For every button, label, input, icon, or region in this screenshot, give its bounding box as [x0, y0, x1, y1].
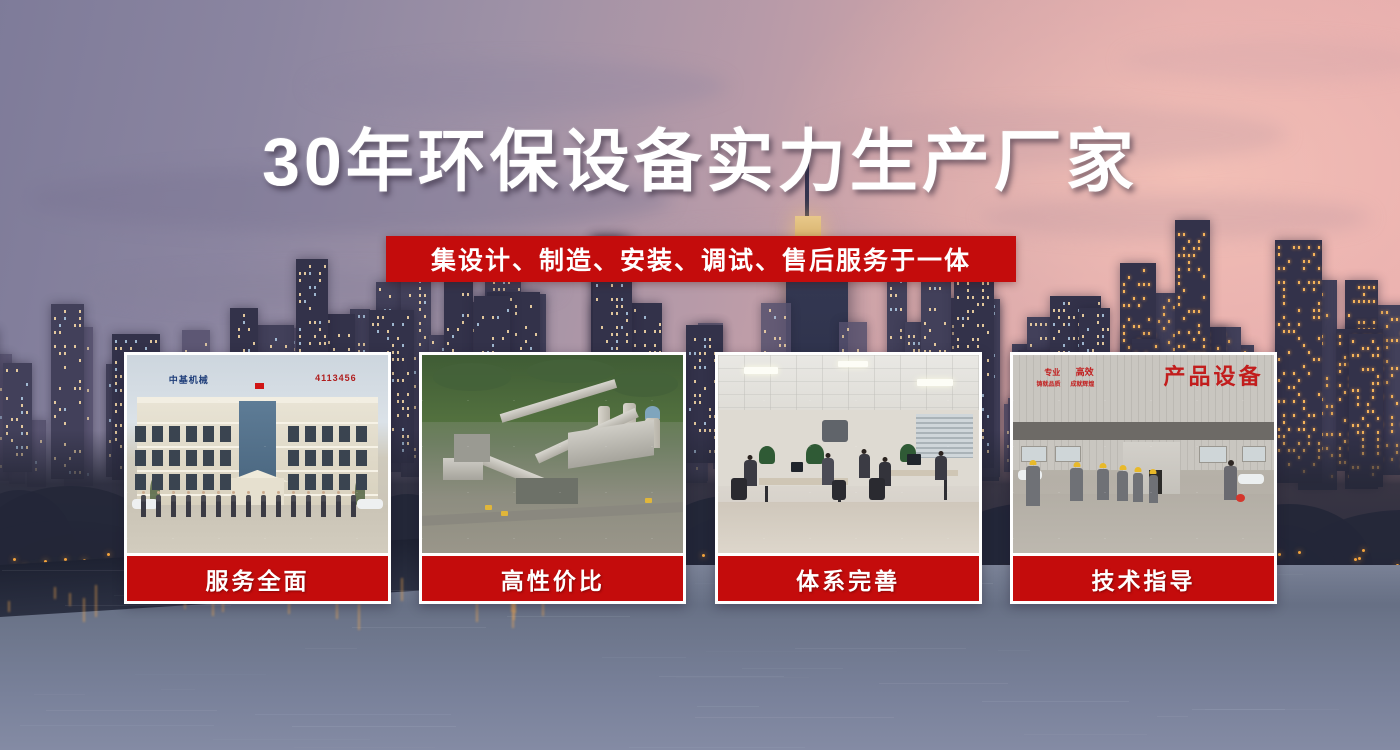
window-light: [987, 296, 989, 299]
window-light: [419, 343, 421, 346]
water-ripple: [1205, 709, 1339, 710]
window-light: [333, 348, 335, 351]
window-light: [1183, 233, 1185, 236]
window-light: [397, 337, 399, 340]
window-light: [1377, 375, 1379, 378]
water-ripple: [213, 739, 370, 740]
window-light: [150, 340, 152, 343]
water-ripple: [659, 676, 784, 677]
window-light: [694, 338, 696, 341]
window-light: [115, 375, 117, 378]
window-light: [482, 316, 484, 319]
window-light: [1168, 299, 1170, 302]
window-light: [21, 425, 23, 428]
window-light: [16, 369, 18, 372]
window-light: [1288, 330, 1290, 333]
window-light: [1331, 412, 1333, 415]
window-light: [634, 330, 636, 333]
window-light: [890, 287, 892, 290]
staff-person: [141, 495, 146, 517]
window-light: [1339, 398, 1341, 401]
staff-person: [306, 495, 311, 517]
window-light: [1138, 304, 1140, 307]
feature-card-row: 中基机械 4113456 服务全面: [124, 352, 1277, 604]
window-light: [1128, 304, 1130, 307]
window-light: [1386, 360, 1388, 363]
window: [339, 474, 350, 490]
window-light: [1391, 416, 1393, 419]
window-light: [1082, 335, 1084, 338]
window-light: [1198, 310, 1200, 313]
window-light: [409, 294, 411, 297]
card-caption-text: 体系完善: [796, 562, 900, 596]
window-light: [1339, 335, 1341, 338]
window-light: [372, 323, 374, 326]
window-light: [1045, 323, 1047, 326]
window-light: [319, 342, 321, 345]
window: [169, 474, 180, 490]
flag: [255, 383, 264, 389]
window-light: [1367, 403, 1369, 406]
window: [356, 474, 367, 490]
window-light: [967, 289, 969, 292]
window-light: [275, 338, 277, 341]
window-light: [929, 287, 931, 290]
window-light: [972, 296, 974, 299]
window-light: [64, 317, 66, 320]
window: [339, 426, 350, 442]
window-light: [621, 284, 623, 287]
staff-person: [321, 495, 326, 517]
window-light: [1123, 325, 1125, 328]
window-light: [1193, 310, 1195, 313]
window-light: [309, 265, 311, 268]
window-light: [1203, 345, 1205, 348]
window: [339, 450, 350, 466]
window-light: [1363, 286, 1365, 289]
window-light: [1372, 410, 1374, 413]
window-light: [616, 298, 618, 301]
window-light: [1098, 302, 1100, 305]
window-light: [977, 303, 979, 306]
window-light: [467, 293, 469, 296]
water-ripple: [602, 657, 686, 658]
window-light: [1298, 309, 1300, 312]
window-light: [611, 312, 613, 315]
window-light: [982, 289, 984, 292]
window-light: [299, 328, 301, 331]
window-light: [248, 328, 250, 331]
window-light: [26, 411, 28, 414]
window-light: [621, 298, 623, 301]
window-light: [467, 314, 469, 317]
window-light: [419, 301, 421, 304]
window-light: [908, 335, 910, 338]
window: [322, 474, 333, 490]
window-light: [1368, 286, 1370, 289]
window-light: [1058, 330, 1060, 333]
window-light: [87, 417, 89, 420]
window-light: [1123, 290, 1125, 293]
window-light: [1358, 286, 1360, 289]
window-light: [379, 288, 381, 291]
window-light: [1148, 318, 1150, 321]
water-ripple: [998, 650, 1030, 651]
window-light: [59, 387, 61, 390]
window-light: [1352, 389, 1354, 392]
window-light: [0, 388, 2, 391]
window-light: [319, 272, 321, 275]
window: [203, 450, 214, 466]
window-light: [115, 424, 117, 427]
window-light: [1308, 351, 1310, 354]
window-light: [774, 337, 776, 340]
window-light: [1278, 358, 1280, 361]
window-light: [54, 345, 56, 348]
window-light: [338, 334, 340, 337]
window-light: [520, 347, 522, 350]
window-light: [64, 366, 66, 369]
window-light: [918, 342, 920, 345]
window-light: [601, 326, 603, 329]
window-light: [1377, 354, 1379, 357]
window-light: [1198, 324, 1200, 327]
staff-person: [261, 495, 266, 517]
window-light: [79, 380, 81, 383]
window-light: [1362, 368, 1364, 371]
window-light: [1123, 339, 1125, 342]
window-light: [1318, 393, 1320, 396]
window-light: [299, 279, 301, 282]
window-light: [982, 296, 984, 299]
window-light: [382, 316, 384, 319]
window-light: [1163, 327, 1165, 330]
window-light: [611, 298, 613, 301]
window-light: [962, 317, 964, 320]
water-ripple: [706, 651, 897, 652]
window: [356, 450, 367, 466]
window-light: [135, 340, 137, 343]
worker-person: [1149, 475, 1158, 503]
factory-wall-main-text: 产品设备: [1164, 359, 1264, 391]
window-light: [1358, 321, 1360, 324]
window: [186, 450, 197, 466]
window-light: [1228, 340, 1230, 343]
window: [135, 426, 146, 442]
window-light: [626, 333, 628, 336]
window-light: [205, 343, 207, 346]
window-light: [1283, 316, 1285, 319]
window-light: [120, 424, 122, 427]
staff-person: [291, 495, 296, 517]
window-light: [1073, 337, 1075, 340]
window-light: [319, 328, 321, 331]
window-light: [900, 308, 902, 311]
window-light: [1357, 403, 1359, 406]
window-light: [1283, 421, 1285, 424]
window-light: [1391, 395, 1393, 398]
window-light: [1386, 346, 1388, 349]
window-light: [1298, 393, 1300, 396]
water-ripple: [742, 668, 844, 669]
window: [305, 474, 316, 490]
window-light: [1303, 260, 1305, 263]
window-light: [967, 296, 969, 299]
window-light: [1158, 320, 1160, 323]
window-light: [1288, 323, 1290, 326]
feature-card-system[interactable]: 体系完善: [715, 352, 982, 604]
window-light: [982, 303, 984, 306]
worker-person: [1117, 471, 1128, 501]
window: [356, 426, 367, 442]
window-light: [54, 331, 56, 334]
window-light: [1318, 316, 1320, 319]
window-light: [596, 284, 598, 287]
window-light: [1030, 323, 1032, 326]
window-light: [1373, 321, 1375, 324]
window-light: [1298, 246, 1300, 249]
building-phone-text: 4113456: [315, 373, 357, 383]
window-light: [243, 314, 245, 317]
window-light: [54, 415, 56, 418]
window-light: [616, 305, 618, 308]
window-light: [596, 298, 598, 301]
window-light: [1318, 337, 1320, 340]
window-light: [115, 410, 117, 413]
industrial-plant-aerial-photo: [422, 355, 683, 553]
window-light: [115, 347, 117, 350]
building-sign-text: 中基机械: [169, 373, 209, 386]
light-reflection: [8, 601, 10, 612]
water-ripple: [629, 747, 805, 748]
window-light: [1102, 342, 1104, 345]
window-light: [54, 401, 56, 404]
window-light: [1143, 269, 1145, 272]
window-light: [1053, 323, 1055, 326]
window-light: [6, 425, 8, 428]
window-light: [1068, 302, 1070, 305]
window-light: [967, 345, 969, 348]
window-light: [1188, 310, 1190, 313]
window-light: [1123, 283, 1125, 286]
factory-wall-text-left2: 高效: [1076, 365, 1094, 378]
window-light: [1303, 400, 1305, 403]
window-light: [704, 338, 706, 341]
window-light: [1391, 374, 1393, 377]
window-light: [1298, 323, 1300, 326]
window-light: [1357, 396, 1359, 399]
window-light: [779, 337, 781, 340]
staff-person: [156, 495, 161, 517]
window-light: [764, 330, 766, 333]
window-light: [1396, 367, 1398, 370]
window-light: [1308, 281, 1310, 284]
window-light: [1183, 317, 1185, 320]
window-light: [621, 326, 623, 329]
window-light: [611, 284, 613, 287]
card-caption-bar: 服务全面: [127, 556, 388, 601]
window-light: [1293, 246, 1295, 249]
window-light: [1178, 331, 1180, 334]
window-light: [424, 301, 426, 304]
window-light: [1123, 332, 1125, 335]
water-ripple: [20, 725, 214, 726]
window-light: [309, 307, 311, 310]
window-light: [424, 315, 426, 318]
window-light: [1040, 337, 1042, 340]
card-caption-bar: 体系完善: [718, 556, 979, 601]
window: [288, 450, 299, 466]
window-light: [1183, 254, 1185, 257]
window-light: [1278, 323, 1280, 326]
window-light: [977, 338, 979, 341]
window-light: [611, 333, 613, 336]
card-caption-bar: 技术指导: [1013, 556, 1274, 601]
light-reflection: [95, 585, 97, 617]
window-light: [1362, 347, 1364, 350]
feature-card-guidance[interactable]: 产品设备 专业 高效 铸就品质 成就辉煌: [1010, 352, 1277, 604]
window-light: [913, 342, 915, 345]
window-light: [1381, 311, 1383, 314]
window: [135, 474, 146, 490]
window-light: [115, 361, 117, 364]
window-light: [1391, 367, 1393, 370]
window-light: [1313, 281, 1315, 284]
card-caption-bar: 高性价比: [422, 556, 683, 601]
company-headquarters-photo: 中基机械 4113456: [127, 355, 388, 553]
window-light: [1283, 267, 1285, 270]
window-light: [1068, 337, 1070, 340]
window-light: [1362, 417, 1364, 420]
window-light: [492, 316, 494, 319]
window-light: [1367, 347, 1369, 350]
window-light: [462, 314, 464, 317]
window-light: [1352, 424, 1354, 427]
window-light: [1183, 247, 1185, 250]
window-light: [1326, 405, 1328, 408]
window-light: [1168, 341, 1170, 344]
window-light: [115, 368, 117, 371]
window-light: [1193, 254, 1195, 257]
window-light: [1193, 247, 1195, 250]
window-light: [447, 328, 449, 331]
window-light: [314, 293, 316, 296]
window-light: [1326, 314, 1328, 317]
window-light: [967, 310, 969, 313]
window-light: [115, 382, 117, 385]
window-light: [1063, 309, 1065, 312]
window-light: [1087, 328, 1089, 331]
window-light: [54, 317, 56, 320]
window-light: [462, 293, 464, 296]
window-light: [1203, 338, 1205, 341]
subtitle-text: 集设计、制造、安装、调试、售后服务于一体: [431, 241, 971, 277]
window-light: [515, 312, 517, 315]
light-reflection: [69, 593, 71, 606]
window: [288, 426, 299, 442]
water-ripple: [879, 683, 1008, 684]
window-light: [407, 316, 409, 319]
window-light: [1283, 400, 1285, 403]
window-light: [972, 310, 974, 313]
window-light: [900, 329, 902, 332]
window-light: [424, 336, 426, 339]
window-light: [79, 401, 81, 404]
window-light: [1188, 331, 1190, 334]
worker-person: [1026, 466, 1040, 506]
window-light: [1198, 268, 1200, 271]
window-light: [709, 345, 711, 348]
worker-person: [1133, 473, 1143, 502]
window-light: [626, 312, 628, 315]
staff-person: [276, 495, 281, 517]
window-light: [1138, 283, 1140, 286]
window-light: [1178, 233, 1180, 236]
window-light: [1183, 289, 1185, 292]
water-ripple: [34, 694, 85, 695]
window-light: [26, 383, 28, 386]
window-light: [1128, 318, 1130, 321]
feature-card-value[interactable]: 高性价比: [419, 352, 686, 604]
window-light: [1288, 386, 1290, 389]
window-light: [447, 342, 449, 345]
window-light: [1386, 339, 1388, 342]
water-ripple: [695, 717, 894, 718]
feature-card-service[interactable]: 中基机械 4113456 服务全面: [124, 352, 391, 604]
window-light: [377, 323, 379, 326]
window-light: [314, 335, 316, 338]
window-light: [1283, 372, 1285, 375]
water-ripple: [65, 605, 230, 606]
window-light: [784, 316, 786, 319]
window: [220, 450, 231, 466]
window-light: [1377, 417, 1379, 420]
factory-wall-text-left1: 专业: [1044, 367, 1060, 378]
window-light: [1352, 340, 1354, 343]
window-light: [392, 344, 394, 347]
window-light: [1148, 332, 1150, 335]
window-light: [1178, 303, 1180, 306]
window-light: [1357, 354, 1359, 357]
window-light: [1163, 306, 1165, 309]
window-light: [1063, 302, 1065, 305]
window: [186, 426, 197, 442]
water-ripple: [135, 674, 266, 675]
staff-person: [246, 495, 251, 517]
window-light: [1082, 314, 1084, 317]
window-light: [130, 347, 132, 350]
worker-person: [1070, 468, 1083, 501]
window-light: [64, 408, 66, 411]
window-light: [644, 330, 646, 333]
window-light: [21, 411, 23, 414]
window-light: [1203, 275, 1205, 278]
window-light: [1352, 354, 1354, 357]
window-light: [634, 309, 636, 312]
office-interior-photo: [718, 355, 979, 553]
window-light: [1313, 253, 1315, 256]
window-light: [115, 389, 117, 392]
window-light: [1293, 400, 1295, 403]
window-light: [59, 408, 61, 411]
window-light: [929, 329, 931, 332]
window-light: [74, 387, 76, 390]
window-light: [1303, 421, 1305, 424]
window-light: [74, 324, 76, 327]
window-light: [704, 345, 706, 348]
window-light: [452, 335, 454, 338]
window-light: [957, 317, 959, 320]
